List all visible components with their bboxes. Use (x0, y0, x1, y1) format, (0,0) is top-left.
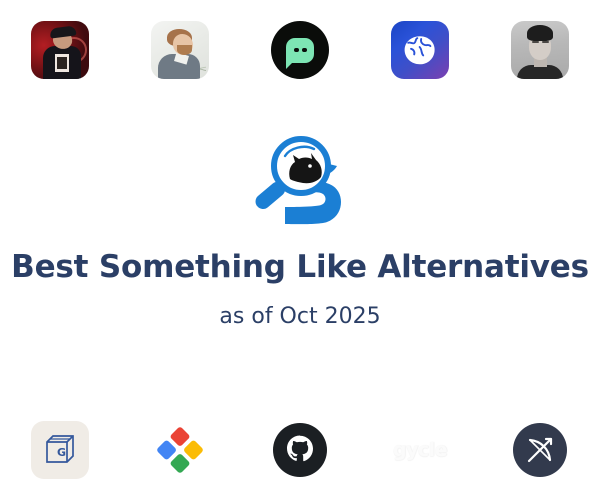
g-book-letter: G (57, 446, 66, 459)
github-octocat-icon (282, 432, 318, 468)
logo-svg (241, 132, 359, 232)
logo-g-book[interactable]: G (31, 421, 89, 479)
logo-gycle[interactable]: gycle (391, 421, 449, 479)
avatar-shirt-print-inner (57, 57, 67, 69)
avatar-grey-shirt-man[interactable] (151, 21, 209, 79)
bottom-row-item-4[interactable]: gycle (384, 419, 456, 481)
logo-github[interactable] (271, 421, 329, 479)
bottom-logo-row: G (0, 400, 600, 500)
chat-dot-1 (294, 48, 299, 53)
page-root: Best Something Like Alternatives as of O… (0, 0, 600, 500)
top-row-item-4[interactable] (384, 19, 456, 81)
bow-arrow-icon (524, 434, 556, 466)
brand-section: Best Something Like Alternatives as of O… (0, 100, 600, 400)
diamond-icon (154, 424, 206, 476)
avatar-brow-right (542, 41, 549, 43)
top-row-item-2[interactable] (144, 19, 216, 81)
gycle-wordmark: gycle (393, 439, 447, 461)
saashub-magnifier-cat-logo (241, 132, 359, 232)
globe-icon (401, 33, 439, 67)
avatar-beard (177, 45, 192, 55)
bottom-row-item-3[interactable] (264, 419, 336, 481)
logo-bow-arrow[interactable] (511, 421, 569, 479)
top-row-item-3[interactable] (264, 19, 336, 81)
top-row-item-1[interactable] (24, 19, 96, 81)
avatar-hair (527, 25, 553, 41)
chat-dot-2 (302, 48, 307, 53)
avatar-greyscale-portrait[interactable] (511, 21, 569, 79)
page-subtitle: as of Oct 2025 (219, 304, 380, 329)
avatar-red-concert[interactable] (31, 21, 89, 79)
g-book-icon: G (43, 433, 77, 467)
bottom-row-item-1[interactable]: G (24, 419, 96, 481)
bow-arrow-circle (513, 423, 567, 477)
github-circle (273, 423, 327, 477)
avatar-shoulders (517, 65, 563, 79)
top-logo-row (0, 0, 600, 100)
page-title: Best Something Like Alternatives (11, 250, 589, 284)
chat-bubble-icon (286, 38, 314, 63)
logo-chat-bubble[interactable] (271, 21, 329, 79)
bottom-row-item-2[interactable] (144, 419, 216, 481)
logo-google-diamond[interactable] (151, 421, 209, 479)
logo-globe-app[interactable] (391, 21, 449, 79)
avatar-brow-left (532, 41, 539, 43)
top-row-item-5[interactable] (504, 19, 576, 81)
bottom-row-item-5[interactable] (504, 419, 576, 481)
